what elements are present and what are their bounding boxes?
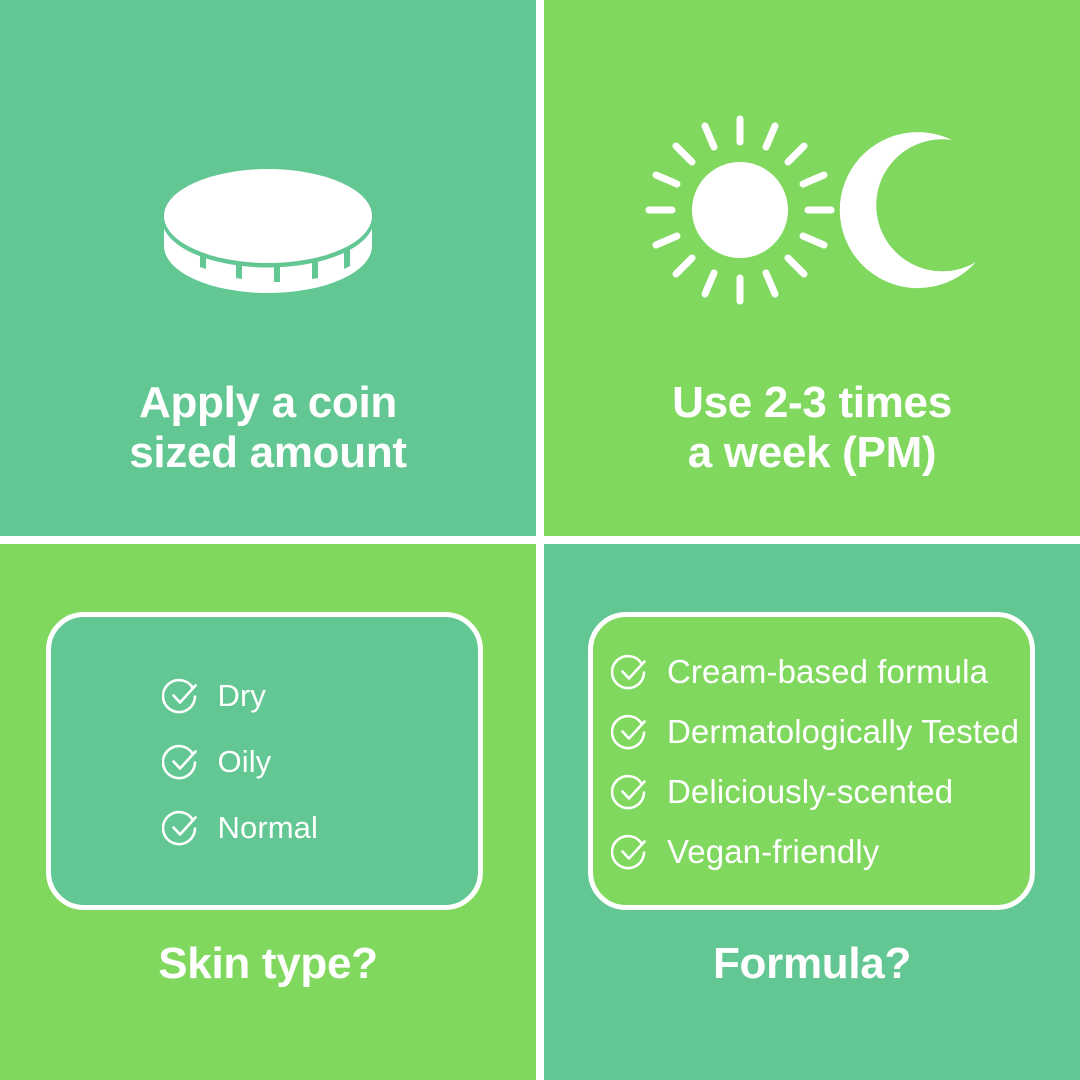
- list-item[interactable]: Vegan-friendly: [611, 831, 879, 871]
- check-circle-icon: [162, 675, 202, 715]
- formula-list: Cream-based formula Dermatologically Tes…: [593, 617, 1030, 905]
- coin-icon: [158, 160, 378, 310]
- sun-moon-icon-wrapper: [544, 100, 1080, 320]
- panel-frequency: Use 2-3 times a week (PM): [544, 0, 1080, 536]
- list-item[interactable]: Cream-based formula: [611, 651, 988, 691]
- check-circle-icon: [611, 771, 651, 811]
- sun-icon: [649, 119, 831, 301]
- formula-card: Cream-based formula Dermatologically Tes…: [588, 612, 1035, 910]
- list-item[interactable]: Deliciously-scented: [611, 771, 953, 811]
- list-item-label: Cream-based formula: [667, 655, 988, 688]
- list-item-label: Dermatologically Tested: [667, 715, 1019, 748]
- list-item-label: Vegan-friendly: [667, 835, 879, 868]
- check-circle-icon: [611, 711, 651, 751]
- skin-type-question: Skin type?: [0, 940, 536, 988]
- list-item-label: Deliciously-scented: [667, 775, 953, 808]
- skin-type-card: Dry Oily Normal: [46, 612, 483, 910]
- list-item-label: Normal: [218, 812, 319, 843]
- check-circle-icon: [162, 807, 202, 847]
- skin-type-list: Dry Oily Normal: [51, 617, 478, 905]
- list-item[interactable]: Dry: [162, 675, 368, 715]
- apply-caption: Apply a coin sized amount: [0, 378, 536, 478]
- list-item[interactable]: Dermatologically Tested: [611, 711, 1019, 751]
- check-circle-icon: [611, 651, 651, 691]
- coin-icon-wrapper: [0, 150, 536, 320]
- infographic-board: Apply a coin sized amount: [0, 0, 1080, 1080]
- list-item[interactable]: Normal: [162, 807, 368, 847]
- list-item-label: Dry: [218, 680, 267, 711]
- formula-question: Formula?: [544, 940, 1080, 988]
- moon-icon: [840, 132, 976, 288]
- list-item-label: Oily: [218, 746, 272, 777]
- check-circle-icon: [611, 831, 651, 871]
- sun-moon-icons: [632, 110, 992, 310]
- check-circle-icon: [162, 741, 202, 781]
- frequency-caption: Use 2-3 times a week (PM): [544, 378, 1080, 478]
- panel-apply-amount: Apply a coin sized amount: [0, 0, 536, 536]
- list-item[interactable]: Oily: [162, 741, 368, 781]
